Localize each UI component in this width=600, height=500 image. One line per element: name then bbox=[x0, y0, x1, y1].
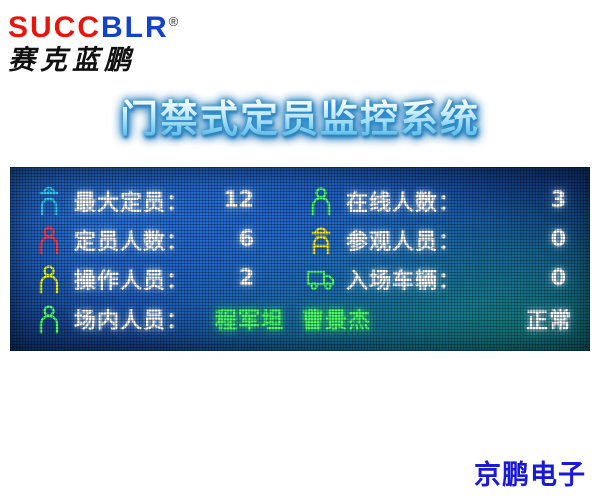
person-icon bbox=[32, 304, 66, 334]
person-icon bbox=[304, 186, 338, 216]
person-with-cap-icon bbox=[32, 186, 66, 216]
led-label: 在线人数： bbox=[346, 185, 461, 217]
led-label: 入场车辆： bbox=[346, 263, 461, 295]
led-field-registered-count: 定员人数： 6 bbox=[10, 224, 298, 256]
led-field-online-count: 在线人数： 3 bbox=[298, 185, 584, 217]
led-value: 12 bbox=[189, 188, 298, 213]
led-rows: 最大定员： 12 在线人数： 3 bbox=[10, 167, 590, 351]
company-logo-latin: SUCCBLR® bbox=[8, 6, 208, 44]
page-title: 门禁式定员监控系统 bbox=[0, 88, 600, 143]
led-value: 2 bbox=[189, 266, 298, 291]
led-display-panel: 最大定员： 12 在线人数： 3 bbox=[10, 167, 590, 351]
led-field-vehicle-count: 入场车辆： 0 bbox=[298, 263, 584, 295]
registered-trademark-icon: ® bbox=[169, 14, 179, 29]
person-name: 程军坦 bbox=[215, 303, 284, 335]
logo-text-succ: SUCC bbox=[8, 11, 101, 44]
led-row: 最大定员： 12 在线人数： 3 bbox=[10, 181, 590, 220]
person-icon bbox=[32, 264, 66, 294]
status-badge: 正常 bbox=[526, 303, 590, 335]
led-field-operator-count: 操作人员： 2 bbox=[10, 263, 298, 295]
led-label: 最大定员： bbox=[74, 185, 189, 217]
footer-company-logo: 京鹏电子 bbox=[474, 453, 586, 492]
led-row: 操作人员： 2 入场车辆： 0 bbox=[10, 259, 590, 298]
led-row: 定员人数： 6 参观人员： 0 bbox=[10, 220, 590, 259]
person-name: 曹景杰 bbox=[302, 303, 371, 335]
led-label: 定员人数： bbox=[74, 224, 189, 256]
logo-text-blr: BLR bbox=[101, 11, 169, 44]
led-label: 参观人员： bbox=[346, 224, 461, 256]
company-logo-chinese: 赛克蓝鹏 bbox=[8, 46, 208, 76]
led-value: 0 bbox=[461, 227, 584, 252]
led-field-visitor-count: 参观人员： 0 bbox=[298, 224, 584, 256]
company-logo: SUCCBLR® 赛克蓝鹏 bbox=[8, 6, 208, 72]
led-value: 3 bbox=[461, 188, 584, 213]
led-value: 6 bbox=[189, 227, 298, 252]
people-on-site-names: 程军坦 曹景杰 bbox=[189, 303, 526, 335]
led-label: 场内人员： bbox=[74, 303, 189, 335]
led-value: 0 bbox=[461, 266, 584, 291]
led-label: 操作人员： bbox=[74, 263, 189, 295]
led-field-people-on-site: 场内人员： 程军坦 曹景杰 正常 bbox=[10, 298, 590, 340]
truck-icon bbox=[304, 266, 338, 292]
person-with-hat-icon bbox=[304, 225, 338, 255]
led-field-max-capacity: 最大定员： 12 bbox=[10, 185, 298, 217]
person-icon bbox=[32, 225, 66, 255]
